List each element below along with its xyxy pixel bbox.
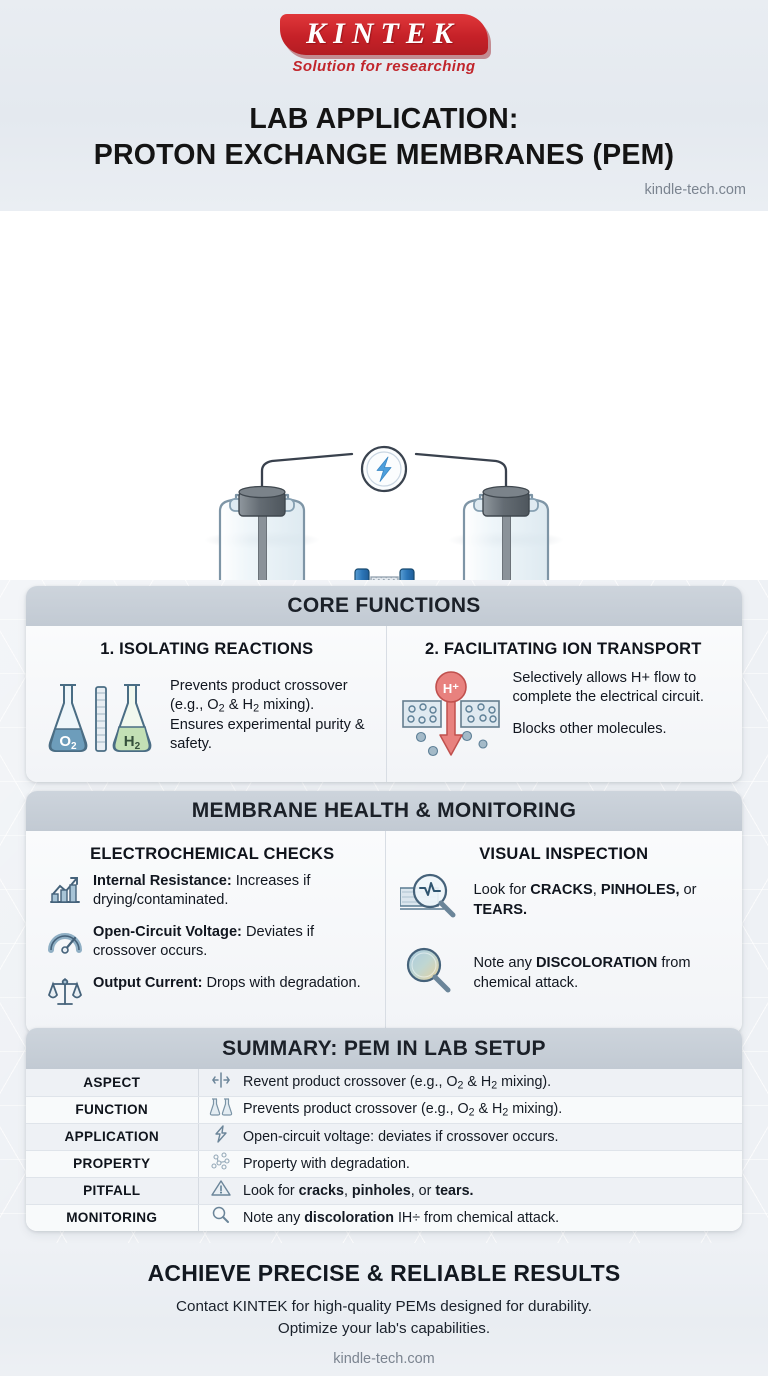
magnifier-over-cracked-membrane-icon [400,872,462,929]
core-ion-transport-title: 2. FACILITATING ION TRANSPORT [399,640,729,659]
table-cell-key: ASPECT [26,1069,198,1096]
molecules-scatter-icon [198,1150,238,1177]
list-item-pre: Look for [474,882,531,898]
proton-crossing-membrane-icon: H⁺ [399,669,503,766]
table-row: APPLICATION Open-circuit voltage: deviat… [26,1123,742,1150]
row-post: mixing). [497,1074,551,1090]
membrane-health-heading: MEMBRANE HEALTH & MONITORING [26,791,742,831]
balance-scale-icon [48,974,82,1013]
list-item-b1: DISCOLORATION [536,955,657,971]
brand-logo: KINTEK Solution for researching [0,14,768,75]
infographic-page: KINTEK Solution for researching LAB APPL… [0,0,768,1376]
pem-membrane [371,577,398,580]
row-pre: Revent product crossover (e.g., O [243,1074,458,1090]
core-isolating-body-2: Ensures experimental purity & safety. [170,717,365,752]
list-item: Open-Circuit Voltage: Deviates if crosso… [48,923,377,962]
membrane-barrier-icon [198,1069,238,1096]
row-post2: , or [411,1183,436,1199]
table-cell-key: PROPERTY [26,1150,198,1177]
footer-title: ACHIEVE PRECISE & RELIABLE RESULTS [0,1260,768,1287]
list-item-b1: CRACKS [530,882,592,898]
core-functions-heading: CORE FUNCTIONS [26,586,742,626]
summary-table: ASPECT Revent product crossover (e.g., O… [26,1069,742,1231]
electrochemical-checks-title: ELECTROCHEMICAL CHECKS [48,845,377,864]
footer-band: ACHIEVE PRECISE & RELIABLE RESULTS Conta… [0,1243,768,1376]
header-url: kindle-tech.com [644,182,746,198]
list-item: Output Current: Drops with degradation. [48,974,377,1013]
table-cell-value: Prevents product crossover (e.g., O2 & H… [238,1096,742,1123]
table-cell-key: MONITORING [26,1204,198,1231]
table-row: ASPECT Revent product crossover (e.g., O… [26,1069,742,1096]
header-band: KINTEK Solution for researching LAB APPL… [0,0,768,211]
table-row: PROPERTY Property with degradation. [26,1150,742,1177]
list-item-text: Output Current: Drops with degradation. [93,974,361,993]
list-item-text: Look for CRACKS, PINHOLES, or TEARS. [474,881,729,919]
table-row: MONITORING Note any discoloration IH÷ fr… [26,1204,742,1231]
core-ion-transport-body: Selectively allows H+ flow to complete t… [513,669,729,739]
table-cell-key: PITFALL [26,1177,198,1204]
warning-triangle-icon [198,1177,238,1204]
list-item: Look for CRACKS, PINHOLES, or TEARS. [400,872,729,929]
list-item-text: Note any DISCOLORATION from chemical att… [474,954,729,992]
row-pre: Prevents product crossover (e.g., O [243,1101,469,1117]
footer-line1: Contact KINTEK for high-quality PEMs des… [176,1298,592,1315]
visual-inspection-column: VISUAL INSPECTION [385,831,743,1034]
list-item-rest: Drops with degradation. [202,975,360,991]
footer-url: kindle-tech.com [0,1351,768,1367]
footer-body: Contact KINTEK for high-quality PEMs des… [0,1296,768,1339]
lightning-bolt-icon [198,1123,238,1150]
table-cell-value: Look for cracks, pinholes, or tears. [238,1177,742,1204]
core-ion-transport-body-2: Blocks other molecules. [513,720,729,739]
page-title-line2: PROTON EXCHANGE MEMBRANES (PEM) [0,137,768,173]
pem-frame-right [400,569,414,580]
two-flasks-separated-by-membrane-icon: O2 H2 [42,677,160,764]
core-isolating-column: 1. ISOLATING REACTIONS O2 [26,626,386,782]
two-flasks-icon [198,1096,238,1123]
row-mid: & H [463,1074,491,1090]
logo-badge: KINTEK [280,14,488,55]
table-cell-value: Revent product crossover (e.g., O2 & H2 … [238,1069,742,1096]
pem-frame-left [355,569,369,580]
list-item-bold: Output Current: [93,975,202,991]
footer-line2: Optimize your lab's capabilities. [278,1320,490,1337]
magnifier-icon [198,1204,238,1231]
bar-chart-trend-up-icon [48,872,82,911]
row-post: mixing). [508,1101,562,1117]
page-title: LAB APPLICATION: PROTON EXCHANGE MEMBRAN… [0,101,768,174]
gauge-icon [48,923,82,962]
table-cell-key: APPLICATION [26,1123,198,1150]
row-mid: & H [475,1101,503,1117]
electrochemical-checks-column: ELECTROCHEMICAL CHECKS Internal Resistan… [26,831,385,1034]
cathode-electrode-stem [503,507,511,580]
core-isolating-body: Prevents product crossover (e.g., O2 & H… [170,677,372,754]
core-isolating-body-1b: & H [225,697,253,713]
table-row: PITFALL Look for cracks, pinholes, or te… [26,1177,742,1204]
row-mid2: , [344,1183,352,1199]
list-item: Note any DISCOLORATION from chemical att… [400,945,729,1002]
row-b1: discoloration [304,1210,394,1226]
membrane-strip-icon [96,687,106,751]
list-item-text: Open-Circuit Voltage: Deviates if crosso… [93,923,377,961]
list-item-b3: TEARS. [474,902,528,918]
list-item-pre: Note any [474,955,536,971]
list-item-text: Internal Resistance: Increases if drying… [93,872,377,910]
table-cell-value: Note any discoloration IH÷ from chemical… [238,1204,742,1231]
core-functions-card: CORE FUNCTIONS 1. ISOLATING REACTIONS O2 [26,586,742,782]
core-isolating-body-1c: mixing). [259,697,314,713]
row-b2: pinholes [352,1183,411,1199]
core-isolating-title: 1. ISOLATING REACTIONS [42,640,372,659]
electrolysis-cell-diagram: H⁺ ANODE CATHODE PEM [0,211,768,580]
core-ion-transport-body-1: Selectively allows H+ flow to complete t… [513,669,729,707]
list-item-b2: PINHOLES, [601,882,680,898]
summary-table-card: SUMMARY: PEM IN LAB SETUP ASPECT Revent … [26,1028,742,1231]
table-cell-value: Open-circuit voltage: deviates if crosso… [238,1123,742,1150]
magnifier-discoloration-icon [400,945,462,1002]
row-pre: Look for [243,1183,299,1199]
list-item-bold: Open-Circuit Voltage: [93,924,242,940]
row-pre: Note any [243,1210,304,1226]
table-cell-value: Property with degradation. [238,1150,742,1177]
anode-electrode-stem [259,507,267,580]
table-row: FUNCTION Prevents product crossover (e.g… [26,1096,742,1123]
list-item-mid: , [593,882,601,898]
table-cell-key: FUNCTION [26,1096,198,1123]
logo-tagline: Solution for researching [0,58,768,75]
visual-inspection-title: VISUAL INSPECTION [400,845,729,864]
row-post2: IH÷ from chemical attack. [394,1210,559,1226]
row-b3: tears. [435,1183,473,1199]
logo-wordmark: KINTEK [306,17,460,50]
page-title-line1: LAB APPLICATION: [249,103,518,135]
core-ion-transport-column: 2. FACILITATING ION TRANSPORT [386,626,743,782]
list-item-bold: Internal Resistance: [93,873,232,889]
svg-text:H⁺: H⁺ [442,681,458,696]
row-b1: cracks [299,1183,344,1199]
summary-heading: SUMMARY: PEM IN LAB SETUP [26,1028,742,1069]
list-item: Internal Resistance: Increases if drying… [48,872,377,911]
membrane-health-card: MEMBRANE HEALTH & MONITORING ELECTROCHEM… [26,791,742,1034]
list-item-post: or [680,882,697,898]
